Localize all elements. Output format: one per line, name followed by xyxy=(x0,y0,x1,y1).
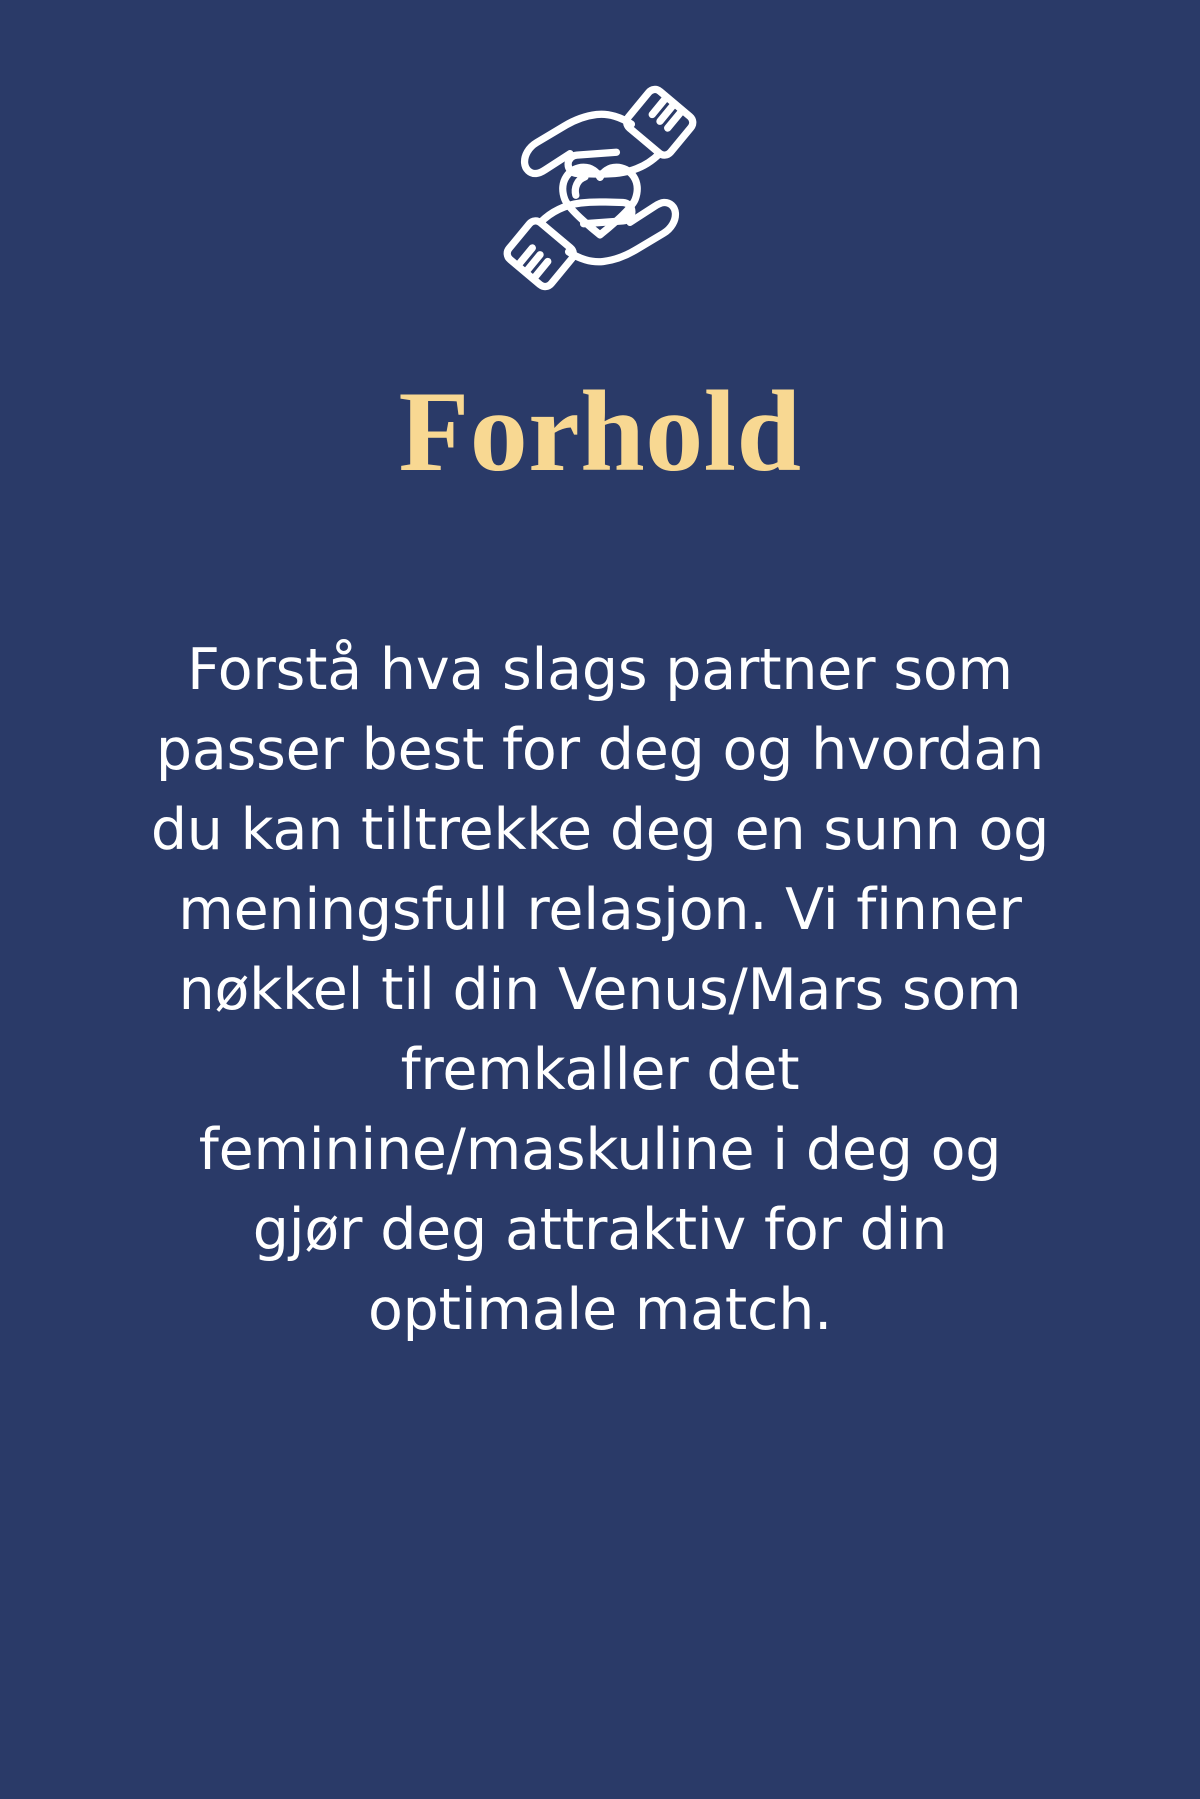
hands-holding-heart-icon xyxy=(484,72,716,304)
page-title: Forhold xyxy=(398,374,801,490)
relationship-info-card: Forhold Forstå hva slags partner som pas… xyxy=(0,0,1200,1799)
description-paragraph: Forstå hva slags partner som passer best… xyxy=(150,630,1050,1350)
description-text: Forstå hva slags partner som passer best… xyxy=(150,630,1050,1350)
